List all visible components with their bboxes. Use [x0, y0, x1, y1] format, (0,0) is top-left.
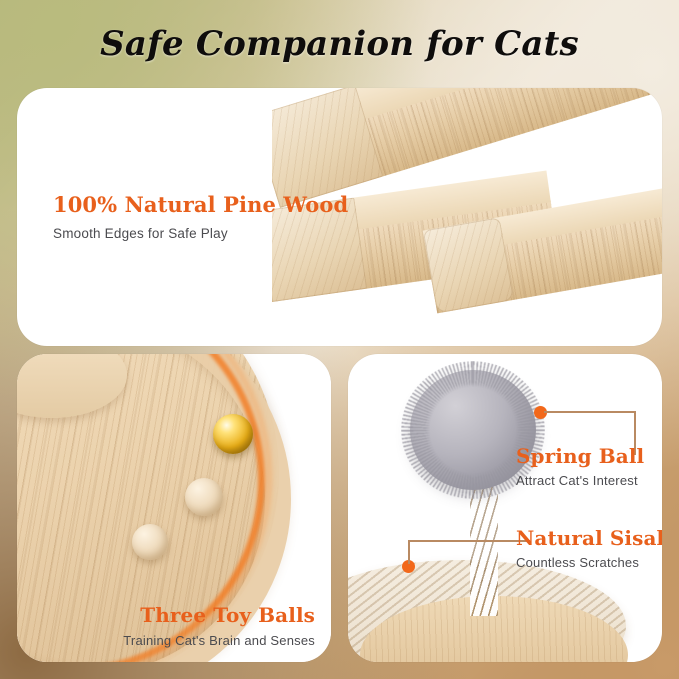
balls-panel-subheading: Training Cat's Brain and Senses [123, 633, 315, 648]
callout-line-spring-ball-horizontal [544, 411, 636, 413]
spring-toy-image [348, 354, 662, 662]
panel-natural-pine-wood: 100% Natural Pine Wood Smooth Edges for … [17, 88, 662, 346]
wood-panel-text: 100% Natural Pine Wood Smooth Edges for … [53, 192, 348, 241]
balls-panel-heading: Three Toy Balls [123, 603, 315, 627]
callout-spring-ball-heading: Spring Ball [516, 444, 644, 468]
balls-panel-text: Three Toy Balls Training Cat's Brain and… [123, 603, 315, 648]
callout-natural-sisal-text: Natural Sisal Countless Scratches [516, 526, 662, 570]
infographic-poster: Safe Companion for Cats [0, 0, 679, 679]
panel-spring-ball-sisal: Spring Ball Attract Cat's Interest Natur… [348, 354, 662, 662]
callout-spring-ball-subheading: Attract Cat's Interest [516, 473, 644, 488]
toy-ball-wood-1 [185, 478, 223, 516]
wood-panel-heading: 100% Natural Pine Wood [53, 192, 348, 217]
page-title: Safe Companion for Cats [100, 24, 579, 64]
callout-spring-ball-text: Spring Ball Attract Cat's Interest [516, 444, 644, 488]
callout-natural-sisal-heading: Natural Sisal [516, 526, 662, 550]
poster-title-area: Safe Companion for Cats [0, 0, 679, 88]
callout-line-natural-sisal-horizontal [408, 540, 530, 542]
wood-panel-subheading: Smooth Edges for Safe Play [53, 226, 348, 241]
callout-natural-sisal-subheading: Countless Scratches [516, 555, 662, 570]
callout-line-natural-sisal-vertical [408, 540, 410, 564]
toy-ball-wood-2 [132, 524, 168, 560]
toy-ball-gold [213, 414, 253, 454]
panel-three-toy-balls: Three Toy Balls Training Cat's Brain and… [17, 354, 331, 662]
